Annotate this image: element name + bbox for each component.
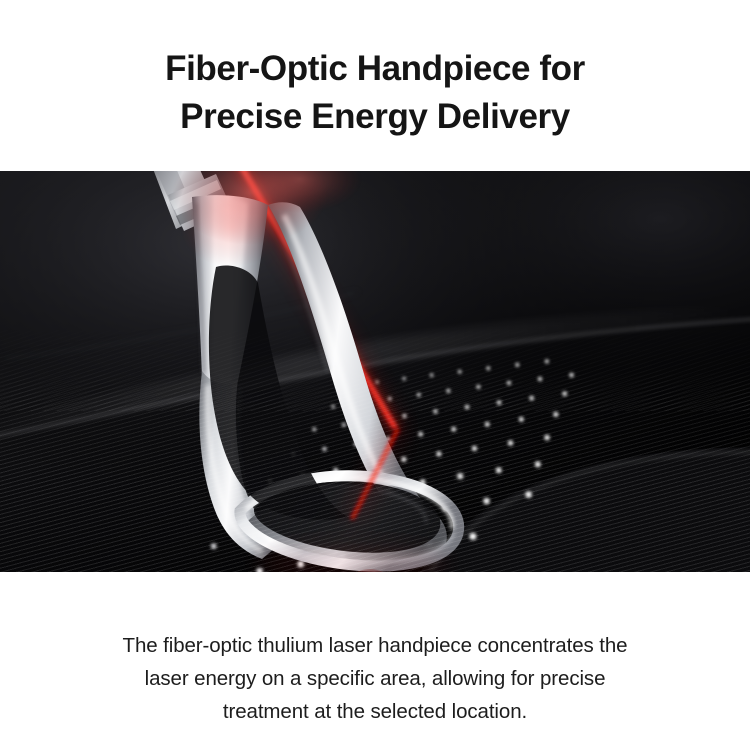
handpiece-illustration — [0, 171, 750, 572]
caption: The fiber-optic thulium laser handpiece … — [75, 629, 675, 728]
caption-line-1: The fiber-optic thulium laser handpiece … — [123, 634, 628, 657]
product-photo — [0, 171, 750, 572]
page-title-line-1: Fiber-Optic Handpiece for — [0, 45, 750, 93]
page-title-line-2: Precise Energy Delivery — [0, 93, 750, 141]
caption-line-3: treatment at the selected location. — [223, 700, 527, 723]
page-title: Fiber-Optic Handpiece for Precise Energy… — [0, 45, 750, 141]
product-feature-card: Fiber-Optic Handpiece for Precise Energy… — [0, 0, 750, 750]
caption-line-2: laser energy on a specific area, allowin… — [145, 667, 606, 690]
